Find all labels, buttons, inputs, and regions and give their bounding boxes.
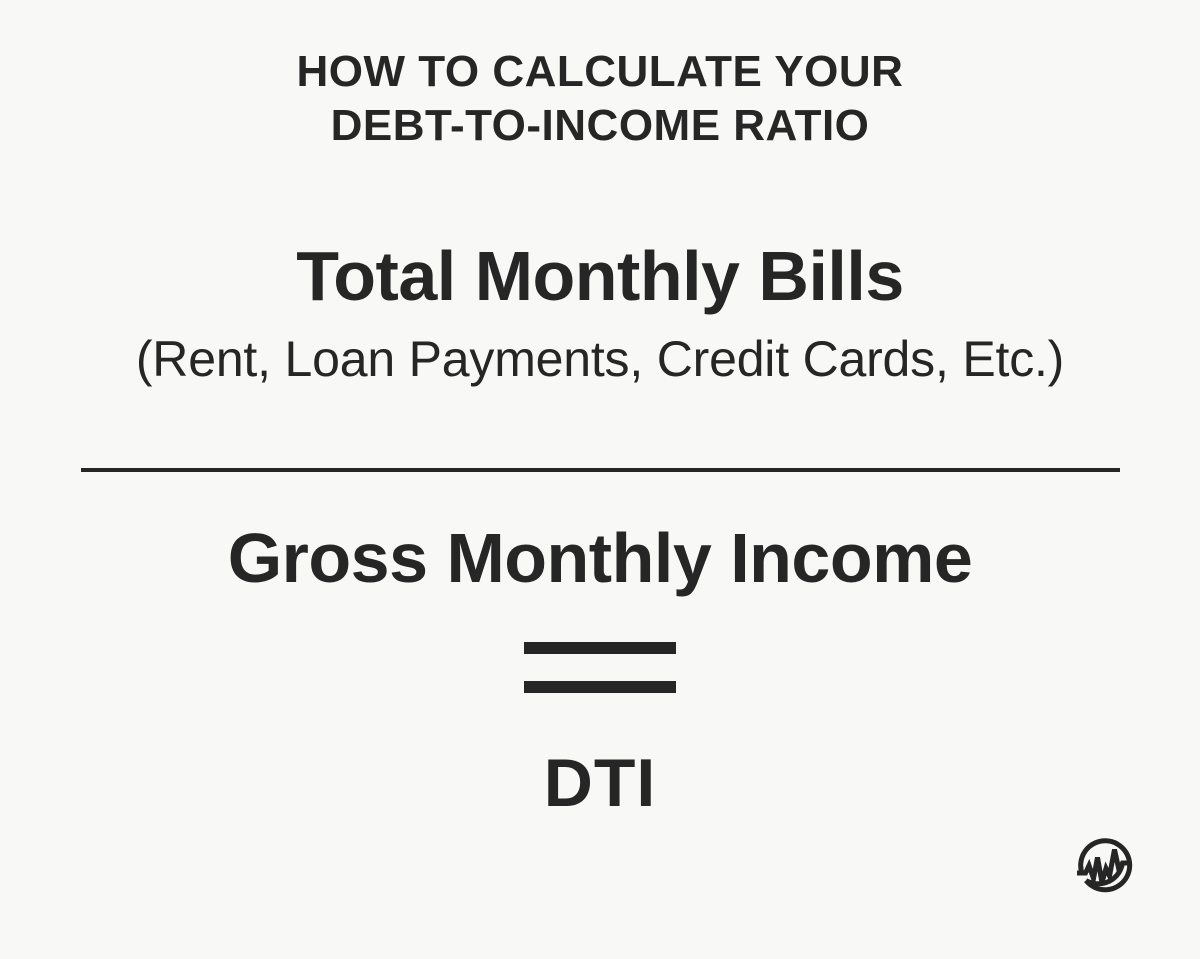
- fraction-divider: [81, 468, 1120, 472]
- numerator-examples: (Rent, Loan Payments, Credit Cards, Etc.…: [0, 328, 1200, 390]
- equals-sign-icon: [524, 642, 676, 693]
- dti-formula-infographic: HOW TO CALCULATE YOUR DEBT-TO-INCOME RAT…: [0, 0, 1200, 959]
- numerator-label: Total Monthly Bills: [0, 236, 1200, 316]
- formula-denominator: Gross Monthly Income: [0, 518, 1200, 598]
- formula-result: DTI: [0, 744, 1200, 822]
- result-label: DTI: [0, 744, 1200, 822]
- title-line-1: HOW TO CALCULATE YOUR: [0, 45, 1200, 99]
- equals-bar-lower: [524, 681, 676, 693]
- title-line-2: DEBT-TO-INCOME RATIO: [0, 99, 1200, 153]
- formula-block: Total Monthly Bills (Rent, Loan Payments…: [0, 236, 1200, 390]
- page-title: HOW TO CALCULATE YOUR DEBT-TO-INCOME RAT…: [0, 45, 1200, 153]
- formula-numerator: Total Monthly Bills (Rent, Loan Payments…: [0, 236, 1200, 390]
- equals-bar-upper: [524, 642, 676, 654]
- waveform-circle-logo-icon: [1064, 830, 1142, 908]
- denominator-label: Gross Monthly Income: [0, 518, 1200, 598]
